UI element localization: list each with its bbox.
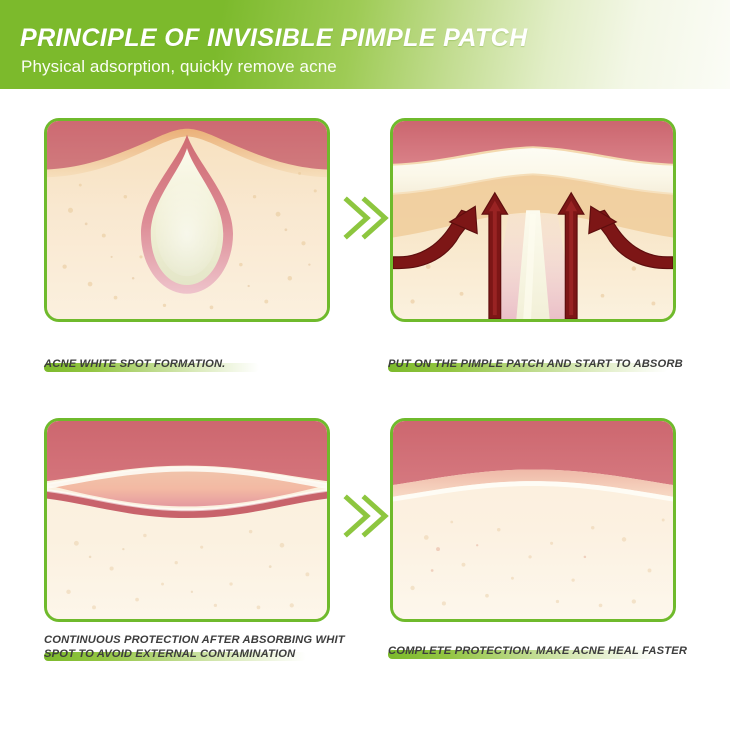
step-2-caption: PUT ON THE PIMPLE PATCH AND START TO ABS…: [388, 358, 708, 372]
step-4-illustration-panel: [390, 418, 676, 622]
patch-absorption-diagram: [393, 121, 673, 319]
double-chevron-right-icon: [341, 190, 389, 246]
healed-smooth-skin-diagram: [393, 421, 673, 619]
double-chevron-right-icon: [341, 488, 389, 544]
step-2-caption-text: PUT ON THE PIMPLE PATCH AND START TO ABS…: [388, 358, 708, 372]
step-2-illustration-panel: [390, 118, 676, 322]
page-subtitle: Physical adsorption, quickly remove acne: [21, 57, 337, 77]
header-banner: PRINCIPLE OF INVISIBLE PIMPLE PATCH Phys…: [0, 0, 730, 89]
healed-dip-under-patch-diagram: [47, 421, 327, 619]
whitehead-pore-diagram: [47, 121, 327, 319]
step-3-caption: CONTINUOUS PROTECTION AFTER ABSORBING WH…: [44, 634, 364, 661]
step-1-caption-text: ACNE WHITE SPOT FORMATION.: [44, 358, 344, 372]
step-4-caption-text: COMPLETE PROTECTION. MAKE ACNE HEAL FAST…: [388, 645, 708, 659]
step-separator-arrow-bottom: [341, 488, 389, 544]
step-1-caption: ACNE WHITE SPOT FORMATION.: [44, 358, 344, 372]
step-3-caption-text-line-1: CONTINUOUS PROTECTION AFTER ABSORBING WH…: [44, 634, 364, 648]
step-3-illustration-panel: [44, 418, 330, 622]
step-1-illustration-panel: [44, 118, 330, 322]
step-4-caption: COMPLETE PROTECTION. MAKE ACNE HEAL FAST…: [388, 645, 708, 659]
step-3-caption-text-line-2: SPOT TO AVOID EXTERNAL CONTAMINATION: [44, 648, 364, 662]
step-separator-arrow-top: [341, 190, 389, 246]
page-title: PRINCIPLE OF INVISIBLE PIMPLE PATCH: [20, 24, 528, 53]
